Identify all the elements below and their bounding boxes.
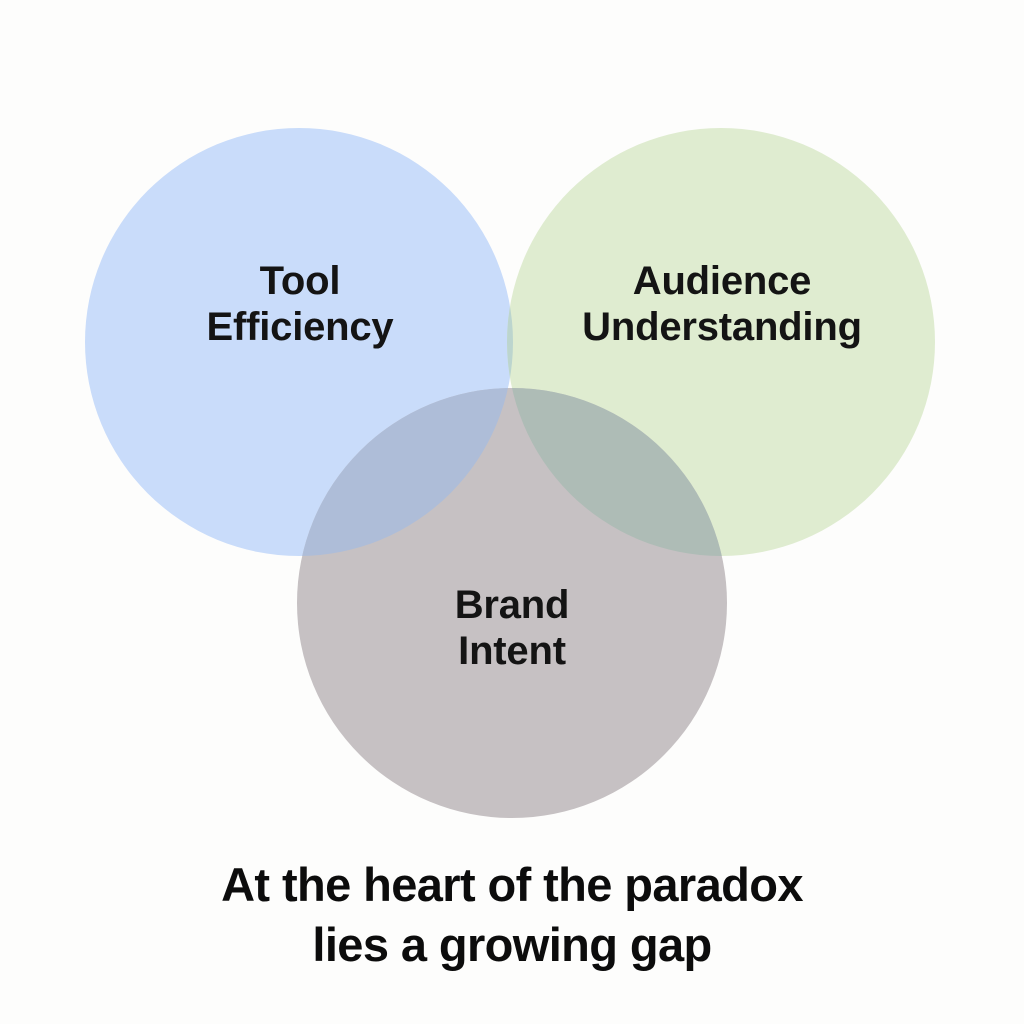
diagram-caption: At the heart of the paradox lies a growi… — [62, 855, 962, 975]
venn-diagram-canvas: Tool Efficiency Audience Understanding B… — [0, 0, 1024, 1024]
